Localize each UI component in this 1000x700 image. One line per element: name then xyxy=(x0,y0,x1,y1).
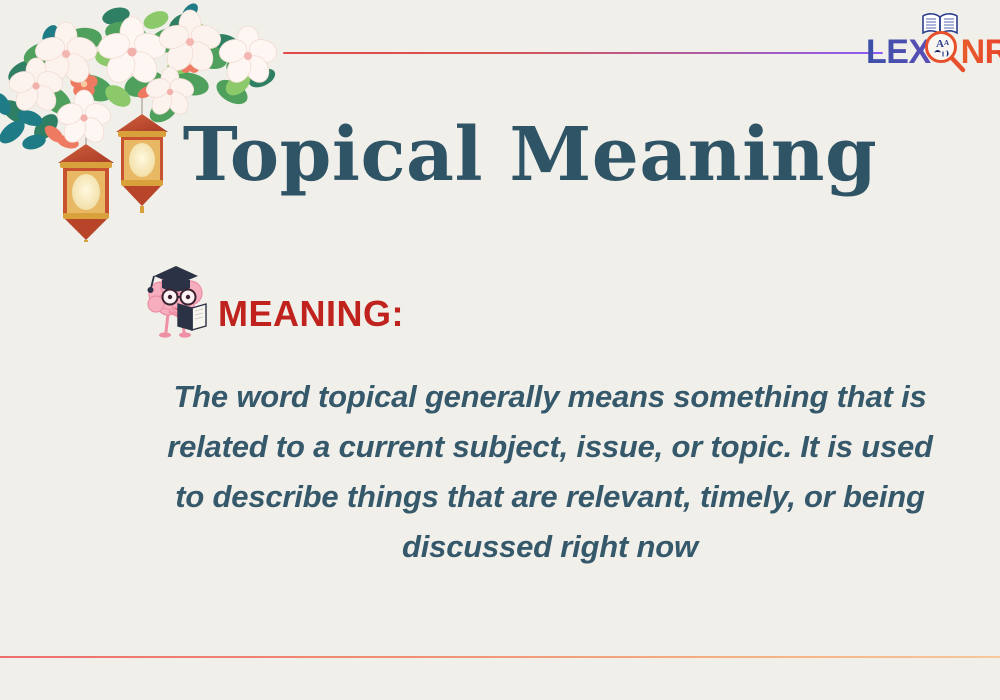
meaning-heading-row: MEANING: xyxy=(138,262,404,344)
bottom-divider-rule xyxy=(0,656,1000,658)
poster-canvas: LEXNR A A Topical Meaning xyxy=(0,0,1000,700)
lexonr-logo[interactable]: LEXNR A A xyxy=(866,12,994,74)
meaning-label: MEANING: xyxy=(218,293,404,335)
logo-text-lex: LEX xyxy=(866,33,931,71)
svg-text:A: A xyxy=(936,38,944,50)
top-divider-rule xyxy=(283,52,883,54)
magnifying-glass-icon: A A xyxy=(923,29,967,73)
brain-graduate-icon xyxy=(138,262,224,344)
page-title: Topical Meaning xyxy=(0,118,1000,192)
svg-text:A: A xyxy=(944,39,949,47)
held-book-icon xyxy=(178,304,206,330)
meaning-body-text: The word topical generally means somethi… xyxy=(160,372,940,572)
